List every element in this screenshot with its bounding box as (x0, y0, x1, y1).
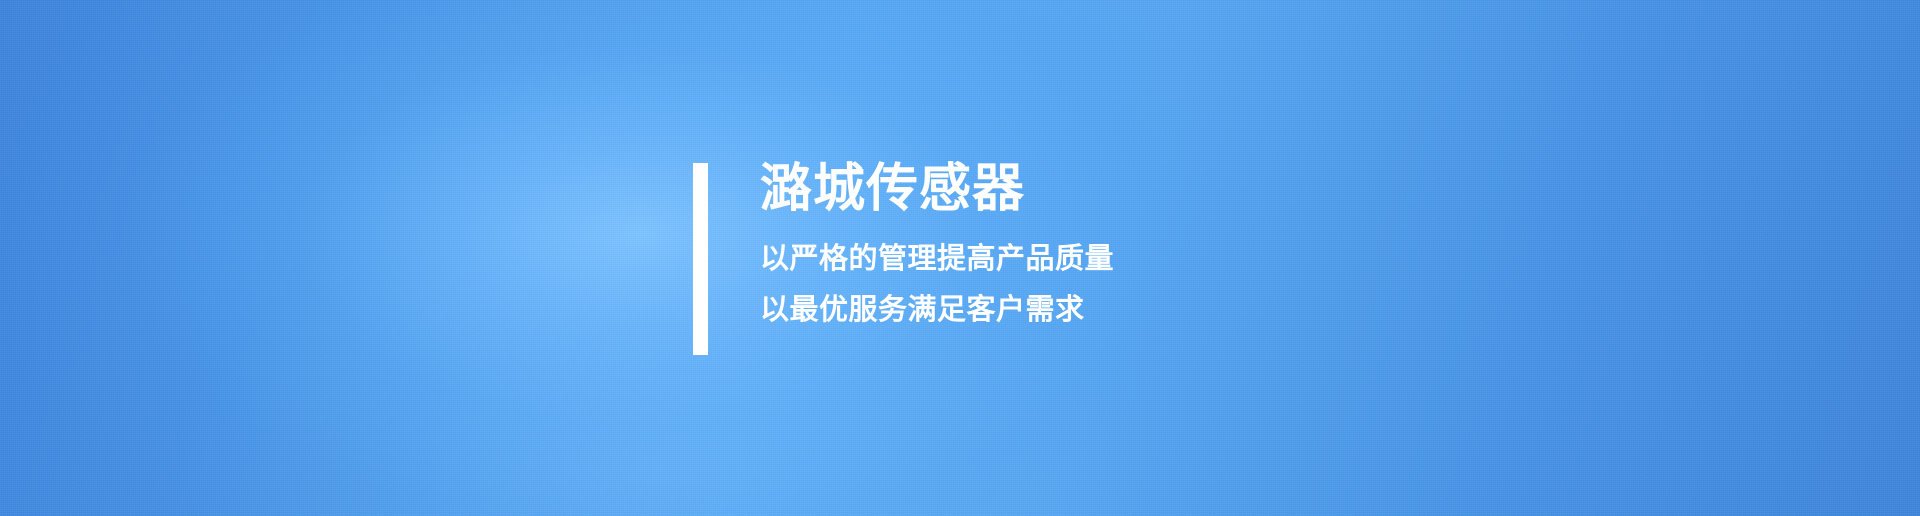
hero-banner: 潞城传感器 以严格的管理提高产品质量 以最优服务满足客户需求 (0, 0, 1920, 516)
page-title: 潞城传感器 (760, 163, 1114, 215)
hero-subtitle-line-1: 以严格的管理提高产品质量 (760, 245, 1114, 274)
hero-text-column: 潞城传感器 以严格的管理提高产品质量 以最优服务满足客户需求 (708, 163, 1114, 355)
hero-content: 潞城传感器 以严格的管理提高产品质量 以最优服务满足客户需求 (693, 163, 1114, 355)
vertical-accent-bar (693, 163, 708, 355)
hero-subtitle-line-2: 以最优服务满足客户需求 (760, 296, 1114, 325)
